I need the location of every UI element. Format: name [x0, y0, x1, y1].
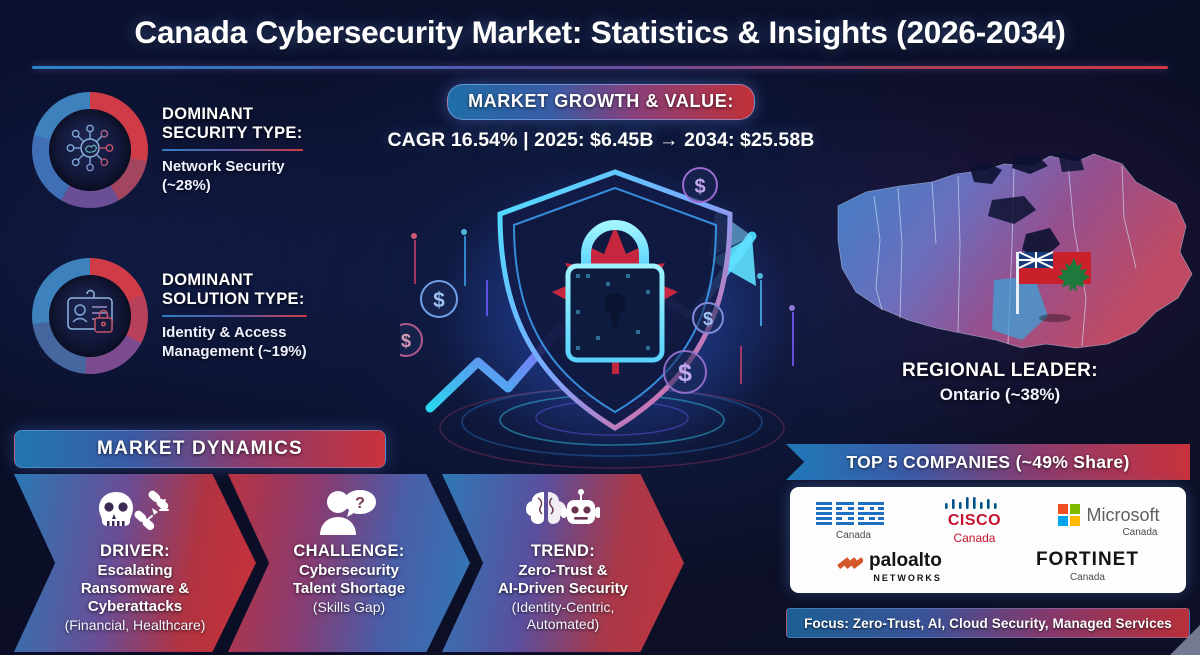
dynamics-card-title: CHALLENGE:: [293, 542, 404, 561]
infographic-canvas: Canada Cybersecurity Market: Statistics …: [0, 0, 1200, 655]
logo-fortinet: FORTINET Canada: [1036, 549, 1139, 583]
donut-center: [49, 275, 131, 357]
dynamics-card-body: Cybersecurity Talent Shortage: [293, 562, 405, 598]
ibm-logo-icon: [816, 502, 890, 529]
logo-suffix: Canada: [953, 531, 995, 545]
donut-center: [49, 109, 131, 191]
stat-text-block: DOMINANT SOLUTION TYPE: Identity & Acces…: [162, 271, 307, 362]
stat-heading: DOMINANT SECURITY TYPE:: [162, 105, 303, 143]
stat-divider: [162, 315, 307, 317]
logo-suffix: Canada: [836, 530, 871, 541]
person-question-icon: ?: [314, 486, 384, 540]
skull-broken-chain-icon: [96, 486, 174, 540]
svg-text:$: $: [433, 289, 445, 312]
dynamics-card-driver: DRIVER: Escalating Ransomware & Cyberatt…: [14, 474, 256, 652]
logo-name: Microsoft: [1086, 505, 1159, 526]
svg-text:$: $: [694, 176, 705, 198]
focus-bar: Focus: Zero-Trust, AI, Cloud Security, M…: [786, 608, 1190, 638]
network-nodes-icon: [61, 119, 119, 182]
market-dynamics-label: MARKET DYNAMICS: [97, 438, 303, 460]
donut-chart-security-type: [32, 92, 148, 208]
stat-divider: [162, 149, 303, 151]
logo-name: FORTINET: [1036, 549, 1139, 571]
paloalto-bars-icon: [837, 551, 863, 571]
canada-map-icon: [836, 148, 1196, 366]
regional-leader-block: REGIONAL LEADER: Ontario (~38%): [800, 360, 1200, 405]
microsoft-squares-icon: [1058, 504, 1080, 526]
dynamics-card-note: (Financial, Healthcare): [65, 617, 206, 634]
logo-microsoft: Microsoft Canada: [1058, 504, 1159, 538]
dynamics-card-title: TREND:: [531, 542, 595, 561]
dynamics-card-body: Zero-Trust & AI-Driven Security: [498, 562, 628, 598]
page-title: Canada Cybersecurity Market: Statistics …: [0, 14, 1200, 51]
regional-leader-value: Ontario (~38%): [800, 385, 1200, 405]
svg-text:?: ?: [355, 495, 365, 512]
stat-text-block: DOMINANT SECURITY TYPE: Network Security…: [162, 105, 303, 196]
top5-companies-label: TOP 5 COMPANIES (~49% Share): [846, 452, 1129, 473]
svg-text:$: $: [703, 309, 713, 329]
dynamics-card-trend: TREND: Zero-Trust & AI-Driven Security (…: [442, 474, 684, 652]
dynamics-card-challenge: ? CHALLENGE: Cybersecurity Talent Shorta…: [228, 474, 470, 652]
brain-robot-icon: [526, 486, 600, 540]
logo-suffix: NETWORKS: [873, 573, 942, 583]
top5-companies-ribbon: TOP 5 COMPANIES (~49% Share): [786, 444, 1190, 480]
donut-chart-solution-type: [32, 258, 148, 374]
id-badge-lock-icon: [61, 287, 119, 346]
page-title-text: Canada Cybersecurity Market: Statistics …: [0, 14, 1200, 51]
dynamics-card-note: (Skills Gap): [313, 599, 385, 616]
logo-suffix: Canada: [1070, 572, 1105, 583]
dynamics-card-note: (Identity-Centric, Automated): [512, 599, 615, 633]
logo-row-top: Canada CISCO Canada: [790, 497, 1186, 545]
corner-accent: [1170, 625, 1200, 655]
logo-ibm: Canada: [816, 502, 890, 541]
title-divider: [32, 66, 1168, 69]
stat-dominant-solution-type: DOMINANT SOLUTION TYPE: Identity & Acces…: [32, 258, 307, 374]
logo-row-bottom: paloalto NETWORKS FORTINET Canada: [790, 549, 1186, 583]
stat-subtext: Network Security (~28%): [162, 158, 303, 196]
stat-heading: DOMINANT SOLUTION TYPE:: [162, 271, 307, 309]
logo-paloalto: paloalto NETWORKS: [837, 550, 942, 583]
stat-dominant-security-type: DOMINANT SECURITY TYPE: Network Security…: [32, 92, 303, 208]
logo-name: paloalto: [869, 550, 942, 572]
logo-name: CISCO: [948, 512, 1001, 530]
dynamics-card-body: Escalating Ransomware & Cyberattacks: [81, 562, 189, 616]
svg-text:$: $: [401, 331, 411, 351]
shield-padlock-maple-leaf-growth-arrow-icon: $ $ $ $ $: [400, 140, 840, 470]
stat-subtext: Identity & Access Management (~19%): [162, 324, 307, 362]
cisco-bars-icon: [943, 497, 1005, 512]
logo-suffix: Canada: [1122, 527, 1157, 538]
svg-text:$: $: [678, 359, 692, 387]
dynamics-card-title: DRIVER:: [100, 542, 170, 561]
logo-cisco: CISCO Canada: [943, 497, 1005, 545]
focus-bar-label: Focus: Zero-Trust, AI, Cloud Security, M…: [804, 616, 1172, 631]
market-growth-pill: MARKET GROWTH & VALUE:: [447, 84, 755, 120]
regional-leader-heading: REGIONAL LEADER:: [800, 360, 1200, 382]
top5-companies-logo-card: Canada CISCO Canada: [790, 487, 1186, 593]
market-dynamics-banner: MARKET DYNAMICS: [14, 430, 386, 468]
